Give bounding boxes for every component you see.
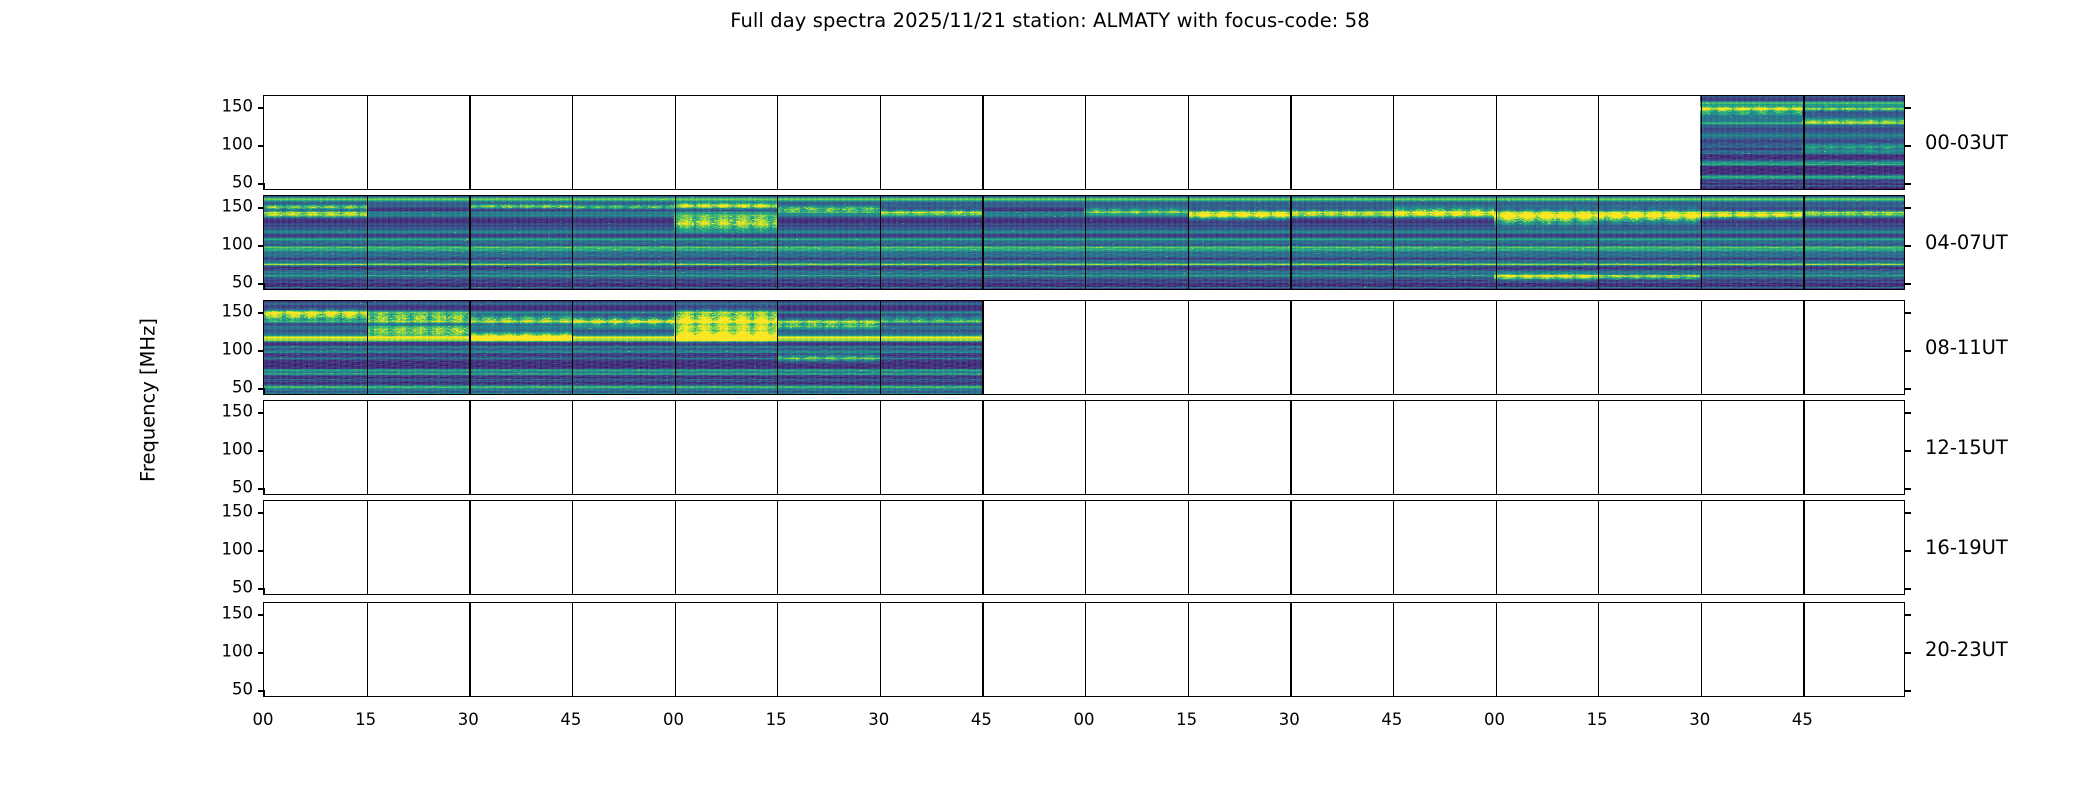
- x-tick-mark: [367, 388, 368, 395]
- y-tick-label: 50: [195, 273, 253, 292]
- x-tick-label: 30: [458, 710, 479, 729]
- panel-divider: [777, 401, 778, 494]
- x-tick-mark: [982, 588, 983, 595]
- x-tick-mark: [1496, 488, 1497, 495]
- panel-divider: [777, 603, 778, 696]
- panel-divider: [469, 501, 470, 594]
- row-label-16-19ut: 16-19UT: [1925, 536, 2008, 559]
- x-tick-mark: [880, 183, 881, 190]
- x-tick-mark: [1496, 183, 1497, 190]
- x-tick-mark: [1085, 690, 1086, 697]
- panel-divider: [1598, 401, 1599, 494]
- x-tick-mark: [675, 388, 676, 395]
- x-tick-mark: [1290, 183, 1291, 190]
- panel-divider: [1701, 301, 1702, 394]
- panel-divider: [469, 96, 470, 189]
- panel-divider: [572, 96, 573, 189]
- panel-divider: [982, 501, 983, 594]
- x-tick-mark: [1598, 488, 1599, 495]
- x-tick-label: 30: [868, 710, 889, 729]
- y-tick-mark: [258, 652, 265, 653]
- x-tick-mark: [264, 283, 265, 290]
- y-tick-label: 150: [195, 604, 253, 623]
- x-tick-mark: [1393, 388, 1394, 395]
- x-tick-mark: [1803, 488, 1804, 495]
- panel-divider: [777, 96, 778, 189]
- spectrogram-row-12-15ut[interactable]: [263, 400, 1905, 495]
- page-title: Full day spectra 2025/11/21 station: ALM…: [0, 9, 2100, 32]
- y-tick-mark: [1904, 690, 1911, 691]
- panel-divider: [469, 603, 470, 696]
- x-tick-mark: [1598, 588, 1599, 595]
- x-tick-mark: [1803, 588, 1804, 595]
- x-tick-mark: [469, 690, 470, 697]
- x-tick-mark: [1598, 183, 1599, 190]
- x-tick-label: 30: [1689, 710, 1710, 729]
- x-tick-mark: [469, 488, 470, 495]
- panel-divider: [1803, 301, 1804, 394]
- y-tick-mark: [258, 450, 265, 451]
- y-tick-mark: [1904, 107, 1911, 108]
- y-tick-label: 150: [195, 402, 253, 421]
- x-tick-mark: [1496, 690, 1497, 697]
- y-tick-label: 150: [195, 197, 253, 216]
- y-tick-mark: [258, 350, 265, 351]
- y-tick-mark: [1904, 652, 1911, 653]
- x-tick-mark: [1598, 388, 1599, 395]
- x-tick-label: 30: [1279, 710, 1300, 729]
- x-tick-mark: [1290, 283, 1291, 290]
- panel-divider: [1393, 196, 1394, 289]
- x-tick-mark: [1496, 388, 1497, 395]
- x-tick-mark: [675, 183, 676, 190]
- row-label-20-23ut: 20-23UT: [1925, 638, 2008, 661]
- panel-divider: [675, 96, 676, 189]
- y-tick-label: 150: [195, 302, 253, 321]
- x-tick-label: 15: [1176, 710, 1197, 729]
- panel-divider: [1085, 301, 1086, 394]
- spectrogram-image: [264, 401, 1904, 494]
- y-tick-label: 150: [195, 97, 253, 116]
- panel-divider: [982, 401, 983, 494]
- y-tick-mark: [1904, 512, 1911, 513]
- panel-divider: [367, 196, 368, 289]
- y-tick-mark: [258, 207, 265, 208]
- panel-divider: [572, 301, 573, 394]
- x-tick-mark: [1701, 588, 1702, 595]
- x-tick-mark: [1188, 388, 1189, 395]
- y-tick-mark: [258, 550, 265, 551]
- x-tick-mark: [1085, 588, 1086, 595]
- y-tick-mark: [1904, 488, 1911, 489]
- y-tick-mark: [1904, 183, 1911, 184]
- panel-divider: [880, 501, 881, 594]
- y-tick-mark: [258, 245, 265, 246]
- panel-divider: [982, 301, 983, 394]
- panel-divider: [1701, 501, 1702, 594]
- x-tick-mark: [1598, 283, 1599, 290]
- x-tick-mark: [777, 388, 778, 395]
- panel-divider: [572, 196, 573, 289]
- panel-divider: [1290, 603, 1291, 696]
- panel-divider: [1701, 401, 1702, 494]
- x-tick-mark: [367, 183, 368, 190]
- x-tick-mark: [572, 183, 573, 190]
- panel-divider: [1803, 501, 1804, 594]
- x-tick-mark: [1701, 183, 1702, 190]
- x-tick-mark: [1803, 283, 1804, 290]
- panel-divider: [1598, 501, 1599, 594]
- y-tick-mark: [1904, 145, 1911, 146]
- panel-divider: [1598, 96, 1599, 189]
- x-tick-mark: [982, 183, 983, 190]
- y-tick-mark: [1904, 450, 1911, 451]
- x-tick-mark: [1701, 283, 1702, 290]
- panel-divider: [367, 301, 368, 394]
- x-tick-mark: [1290, 690, 1291, 697]
- panel-divider: [1085, 501, 1086, 594]
- x-tick-mark: [777, 690, 778, 697]
- x-tick-mark: [264, 588, 265, 595]
- panel-divider: [777, 501, 778, 594]
- row-label-12-15ut: 12-15UT: [1925, 436, 2008, 459]
- panel-divider: [1496, 401, 1497, 494]
- panel-divider: [675, 196, 676, 289]
- x-tick-mark: [675, 488, 676, 495]
- x-tick-mark: [367, 283, 368, 290]
- x-tick-mark: [675, 588, 676, 595]
- x-tick-mark: [469, 588, 470, 595]
- x-tick-mark: [777, 183, 778, 190]
- x-tick-mark: [1803, 183, 1804, 190]
- panel-divider: [469, 401, 470, 494]
- y-tick-mark: [1904, 614, 1911, 615]
- x-tick-mark: [572, 488, 573, 495]
- row-label-08-11ut: 08-11UT: [1925, 336, 2008, 359]
- spectrogram-row-00-03ut[interactable]: [263, 95, 1905, 190]
- x-tick-mark: [1393, 183, 1394, 190]
- panel-divider: [1085, 603, 1086, 696]
- panel-divider: [1803, 96, 1804, 189]
- x-tick-mark: [264, 183, 265, 190]
- panel-divider: [1701, 96, 1702, 189]
- panel-divider: [572, 501, 573, 594]
- x-tick-mark: [1803, 388, 1804, 395]
- panel-divider: [1598, 603, 1599, 696]
- panel-divider: [469, 196, 470, 289]
- panel-divider: [1496, 603, 1497, 696]
- panel-divider: [1803, 196, 1804, 289]
- x-tick-mark: [777, 488, 778, 495]
- x-tick-label: 15: [355, 710, 376, 729]
- x-tick-label: 45: [560, 710, 581, 729]
- y-tick-mark: [1904, 245, 1911, 246]
- x-tick-mark: [264, 690, 265, 697]
- y-tick-mark: [1904, 412, 1911, 413]
- x-tick-label: 15: [1587, 710, 1608, 729]
- x-tick-mark: [675, 283, 676, 290]
- y-tick-mark: [1904, 550, 1911, 551]
- y-tick-label: 50: [195, 173, 253, 192]
- x-tick-mark: [572, 690, 573, 697]
- x-tick-mark: [982, 388, 983, 395]
- y-tick-label: 50: [195, 680, 253, 699]
- panel-divider: [1188, 501, 1189, 594]
- panel-divider: [1188, 301, 1189, 394]
- y-tick-label: 50: [195, 578, 253, 597]
- x-tick-label: 45: [1381, 710, 1402, 729]
- x-tick-mark: [1085, 183, 1086, 190]
- panel-divider: [880, 603, 881, 696]
- x-tick-mark: [1188, 690, 1189, 697]
- y-tick-mark: [258, 312, 265, 313]
- y-tick-label: 100: [195, 440, 253, 459]
- panel-divider: [1393, 401, 1394, 494]
- x-tick-mark: [264, 488, 265, 495]
- y-tick-label: 100: [195, 135, 253, 154]
- x-tick-mark: [1393, 488, 1394, 495]
- x-tick-mark: [572, 388, 573, 395]
- y-tick-label: 100: [195, 235, 253, 254]
- x-tick-mark: [1803, 690, 1804, 697]
- panel-divider: [1393, 501, 1394, 594]
- panel-divider: [1496, 501, 1497, 594]
- panel-divider: [367, 96, 368, 189]
- y-tick-mark: [258, 512, 265, 513]
- spectrogram-image: [264, 196, 1904, 289]
- y-tick-label: 50: [195, 478, 253, 497]
- y-axis-label: Frequency [MHz]: [137, 318, 160, 482]
- panel-divider: [1085, 196, 1086, 289]
- panel-divider: [982, 196, 983, 289]
- x-tick-mark: [675, 690, 676, 697]
- panel-divider: [675, 603, 676, 696]
- x-tick-mark: [1085, 488, 1086, 495]
- panel-divider: [777, 301, 778, 394]
- x-tick-mark: [777, 283, 778, 290]
- panel-divider: [572, 401, 573, 494]
- x-tick-mark: [1290, 488, 1291, 495]
- x-tick-mark: [367, 588, 368, 595]
- y-tick-mark: [258, 412, 265, 413]
- x-tick-mark: [572, 283, 573, 290]
- spectrogram-image: [264, 501, 1904, 594]
- panel-divider: [1290, 196, 1291, 289]
- x-tick-mark: [1188, 283, 1189, 290]
- y-tick-mark: [1904, 588, 1911, 589]
- x-tick-mark: [982, 690, 983, 697]
- spectrogram-row-04-07ut[interactable]: [263, 195, 1905, 290]
- panel-divider: [1188, 603, 1189, 696]
- y-tick-label: 100: [195, 340, 253, 359]
- panel-divider: [1290, 96, 1291, 189]
- panel-divider: [1393, 603, 1394, 696]
- x-tick-label: 15: [766, 710, 787, 729]
- x-tick-mark: [1188, 588, 1189, 595]
- y-tick-mark: [1904, 207, 1911, 208]
- panel-divider: [1188, 96, 1189, 189]
- panel-divider: [1393, 301, 1394, 394]
- panel-divider: [982, 96, 983, 189]
- x-tick-mark: [367, 488, 368, 495]
- x-tick-mark: [880, 690, 881, 697]
- x-tick-mark: [264, 388, 265, 395]
- x-axis: 00153045001530450015304500153045: [263, 708, 1905, 748]
- panel-divider: [1803, 401, 1804, 494]
- x-tick-mark: [777, 588, 778, 595]
- x-tick-mark: [469, 388, 470, 395]
- panel-divider: [1188, 401, 1189, 494]
- panel-divider: [367, 603, 368, 696]
- panel-divider: [982, 603, 983, 696]
- y-tick-mark: [258, 614, 265, 615]
- y-tick-mark: [1904, 388, 1911, 389]
- x-tick-mark: [880, 488, 881, 495]
- y-tick-mark: [258, 107, 265, 108]
- panel-divider: [1701, 603, 1702, 696]
- panel-divider: [1803, 603, 1804, 696]
- x-tick-mark: [1701, 690, 1702, 697]
- x-tick-mark: [1393, 588, 1394, 595]
- x-tick-mark: [880, 388, 881, 395]
- spectrogram-image: [264, 603, 1904, 696]
- x-tick-mark: [1188, 183, 1189, 190]
- spectrogram-row-20-23ut[interactable]: [263, 602, 1905, 697]
- panel-divider: [1290, 401, 1291, 494]
- x-tick-mark: [1598, 690, 1599, 697]
- panel-divider: [1496, 301, 1497, 394]
- panel-divider: [777, 196, 778, 289]
- panel-divider: [675, 501, 676, 594]
- y-tick-mark: [258, 145, 265, 146]
- x-tick-label: 00: [663, 710, 684, 729]
- x-tick-mark: [1085, 283, 1086, 290]
- panel-divider: [469, 301, 470, 394]
- x-tick-mark: [1701, 388, 1702, 395]
- spectrogram-image: [264, 301, 1904, 394]
- x-tick-label: 00: [253, 710, 274, 729]
- row-label-04-07ut: 04-07UT: [1925, 231, 2008, 254]
- x-tick-mark: [367, 690, 368, 697]
- y-tick-label: 100: [195, 642, 253, 661]
- panel-divider: [1496, 196, 1497, 289]
- y-tick-mark: [1904, 350, 1911, 351]
- x-tick-mark: [469, 183, 470, 190]
- panel-divider: [880, 301, 881, 394]
- x-tick-mark: [1290, 588, 1291, 595]
- panel-divider: [367, 401, 368, 494]
- x-tick-mark: [1496, 588, 1497, 595]
- panel-divider: [880, 96, 881, 189]
- x-tick-mark: [469, 283, 470, 290]
- panel-divider: [572, 603, 573, 696]
- x-tick-mark: [880, 283, 881, 290]
- spectrogram-row-08-11ut[interactable]: [263, 300, 1905, 395]
- x-tick-mark: [982, 283, 983, 290]
- spectrogram-figure: Full day spectra 2025/11/21 station: ALM…: [0, 0, 2100, 800]
- y-tick-mark: [1904, 312, 1911, 313]
- x-tick-label: 00: [1484, 710, 1505, 729]
- row-label-00-03ut: 00-03UT: [1925, 131, 2008, 154]
- x-tick-mark: [1188, 488, 1189, 495]
- panel-divider: [675, 401, 676, 494]
- panel-divider: [1701, 196, 1702, 289]
- x-tick-label: 45: [971, 710, 992, 729]
- panel-divider: [1290, 301, 1291, 394]
- x-tick-mark: [1496, 283, 1497, 290]
- panel-divider: [1188, 196, 1189, 289]
- x-tick-label: 00: [1074, 710, 1095, 729]
- x-tick-mark: [1393, 283, 1394, 290]
- panel-divider: [1496, 96, 1497, 189]
- x-tick-label: 45: [1792, 710, 1813, 729]
- panel-divider: [367, 501, 368, 594]
- x-tick-mark: [1393, 690, 1394, 697]
- panel-divider: [1085, 96, 1086, 189]
- panel-divider: [1393, 96, 1394, 189]
- x-tick-mark: [982, 488, 983, 495]
- x-tick-mark: [1085, 388, 1086, 395]
- y-tick-mark: [1904, 283, 1911, 284]
- panel-divider: [880, 401, 881, 494]
- x-tick-mark: [1701, 488, 1702, 495]
- panel-divider: [675, 301, 676, 394]
- spectrogram-row-16-19ut[interactable]: [263, 500, 1905, 595]
- x-tick-mark: [880, 588, 881, 595]
- panel-divider: [1598, 196, 1599, 289]
- y-tick-label: 50: [195, 378, 253, 397]
- x-tick-mark: [572, 588, 573, 595]
- x-tick-mark: [1290, 388, 1291, 395]
- spectrogram-image: [264, 96, 1904, 189]
- y-tick-label: 150: [195, 502, 253, 521]
- panel-divider: [1085, 401, 1086, 494]
- y-tick-label: 100: [195, 540, 253, 559]
- panel-divider: [1290, 501, 1291, 594]
- panel-divider: [1598, 301, 1599, 394]
- panel-divider: [880, 196, 881, 289]
